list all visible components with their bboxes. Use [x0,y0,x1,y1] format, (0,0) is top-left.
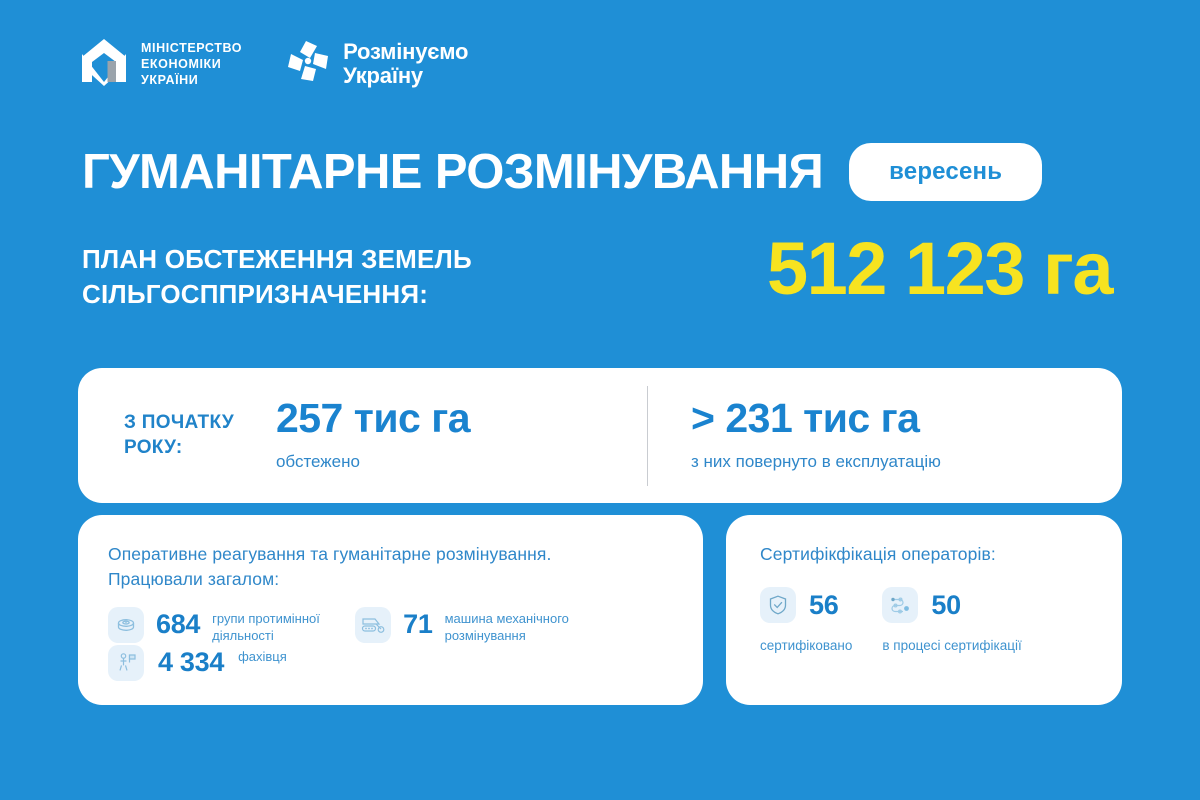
operations-item-groups: 684 групи протимінної діяльності [108,607,337,645]
demine-logo-line-2: Україну [343,64,468,87]
certification-value-in-process: 50 [931,588,960,622]
ministry-logo-text: МІНІСТЕРСТВО ЕКОНОМІКИ УКРАЇНИ [141,40,242,88]
operations-caption-1-line-1: групи протимінної [212,610,337,628]
ministry-of-economy-logo: МІНІСТЕРСТВО ЕКОНОМІКИ УКРАЇНИ [78,36,242,91]
certification-value-certified: 56 [809,588,838,622]
returned-caption: з них повернуто в експлуатацію [691,451,941,473]
plan-label: ПЛАН ОБСТЕЖЕННЯ ЗЕМЕЛЬ СІЛЬГОСППРИЗНАЧЕН… [82,238,472,311]
ministry-logo-line-2: ЕКОНОМІКИ [141,56,242,72]
operations-item-machines: 71 машина механічного розмінування [355,607,569,645]
demine-ukraine-pinwheel-icon [284,37,332,90]
operations-caption-3: фахівця [238,645,287,666]
demine-ukraine-logo-text: Розмінуємо Україну [343,40,468,87]
certification-heading: Сертифікфікація операторів: [760,542,1122,567]
operations-caption-1: групи протимінної діяльності [212,607,337,645]
plan-row: ПЛАН ОБСТЕЖЕННЯ ЗЕМЕЛЬ СІЛЬГОСППРИЗНАЧЕН… [82,238,1130,311]
plan-label-line-1: ПЛАН ОБСТЕЖЕННЯ ЗЕМЕЛЬ [82,242,472,277]
demine-ukraine-logo: Розмінуємо Україну [284,37,468,90]
since-year-card: З ПОЧАТКУ РОКУ: 257 тис га обстежено > 2… [78,368,1122,503]
month-badge: вересень [849,143,1042,201]
ministry-logo-line-3: УКРАЇНИ [141,72,242,88]
returned-value: > 231 тис га [691,397,941,440]
operations-row-1: 684 групи протимінної діяльності [108,607,673,645]
shield-check-icon [760,587,796,623]
operations-value-2: 71 [403,607,432,641]
returned-stat: > 231 тис га з них повернуто в експлуата… [691,397,941,473]
plan-value: 512 123 га [767,232,1112,306]
ministry-m-mark-icon [78,36,130,91]
certification-in-process-top: 50 [882,587,1021,623]
infographic-page: МІНІСТЕРСТВО ЕКОНОМІКИ УКРАЇНИ Р [0,0,1200,800]
certification-caption-certified: сертифіковано [760,637,852,655]
surveyed-value: 257 тис га [276,397,470,440]
operations-caption-2-line-2: розмінування [445,627,570,645]
surveyed-stat: 257 тис га обстежено [276,397,470,473]
operations-caption-1-line-2: діяльності [212,627,337,645]
deminer-specialist-icon [108,645,144,681]
ministry-logo-line-1: МІНІСТЕРСТВО [141,40,242,56]
since-year-label-line-1: З ПОЧАТКУ [124,411,234,436]
demine-logo-line-1: Розмінуємо [343,40,468,63]
certification-certified-top: 56 [760,587,852,623]
operations-caption-2-line-1: машина механічного [445,610,570,628]
since-year-right-section: > 231 тис га з них повернуто в експлуата… [648,368,1122,503]
operations-heading-line-2: Працювали загалом: [108,567,673,592]
demining-machine-icon [355,607,391,643]
page-title: ГУМАНІТАРНЕ РОЗМІНУВАННЯ [82,148,823,197]
certification-item-certified: 56 сертифіковано [760,587,852,655]
process-flow-icon [882,587,918,623]
logo-bar: МІНІСТЕРСТВО ЕКОНОМІКИ УКРАЇНИ Р [78,36,468,91]
plan-label-line-2: СІЛЬГОСППРИЗНАЧЕННЯ: [82,277,472,312]
since-year-label-line-2: РОКУ: [124,436,234,461]
certification-card: Сертифікфікація операторів: 56 сертифіко… [726,515,1122,705]
operations-heading: Оперативне реагування та гуманітарне роз… [108,542,673,592]
surveyed-caption: обстежено [276,451,470,473]
landmine-icon [108,607,144,643]
operations-value-3: 4 334 [158,645,224,679]
operations-row-2: 4 334 фахівця [108,645,673,681]
operations-card: Оперативне реагування та гуманітарне роз… [78,515,703,705]
since-year-label: З ПОЧАТКУ РОКУ: [124,411,234,460]
headline-row: ГУМАНІТАРНЕ РОЗМІНУВАННЯ вересень [82,143,1042,201]
operations-rows: 684 групи протимінної діяльності [108,607,673,681]
operations-caption-2: машина механічного розмінування [445,607,570,645]
certification-item-in-process: 50 в процесі сертифікації [882,587,1021,655]
since-year-left-section: З ПОЧАТКУ РОКУ: 257 тис га обстежено [78,368,647,503]
operations-heading-line-1: Оперативне реагування та гуманітарне роз… [108,542,673,567]
certification-items: 56 сертифіковано [760,587,1122,655]
operations-value-1: 684 [156,607,200,641]
certification-caption-in-process: в процесі сертифікації [882,637,1021,655]
